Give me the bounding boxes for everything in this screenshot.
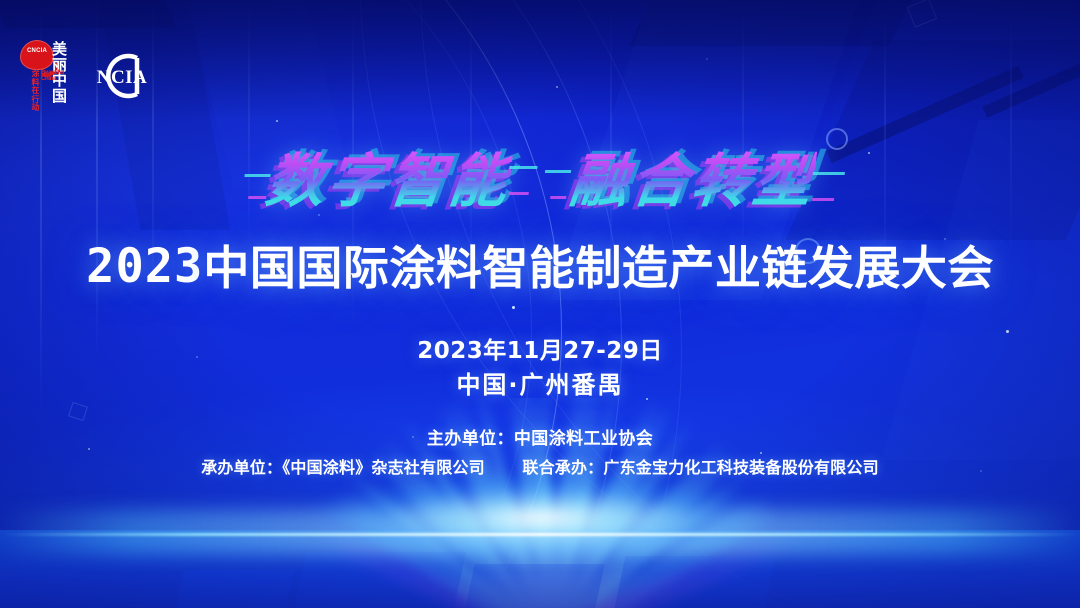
logo-group: CNCIA 美丽中国 涂料在行动 Beautiful China NCIA xyxy=(20,40,154,112)
organizer-line: 承办单位：《中国涂料》杂志社有限公司 联合承办：广东金宝力化工科技装备股份有限公… xyxy=(0,454,1080,482)
headline-word-1: 数字智能 数字智能 数字智能 数字智能 xyxy=(263,152,513,210)
ncia-logo-svg: NCIA xyxy=(90,47,154,105)
badge-label: CNCIA xyxy=(20,48,54,54)
headline: 数字智能 数字智能 数字智能 数字智能 融合转型 融合转型 融合转型 融合转型 xyxy=(0,152,1080,210)
glitch-bar xyxy=(244,174,270,177)
glitch-bar xyxy=(813,172,845,175)
glitch-bar xyxy=(545,170,571,173)
conference-poster: CNCIA 美丽中国 涂料在行动 Beautiful China NCIA 数字… xyxy=(0,0,1080,608)
organizing-company: 承办单位：《中国涂料》杂志社有限公司 xyxy=(201,458,485,477)
ncia-logo[interactable]: NCIA xyxy=(90,47,154,105)
main-title-year: 2023 xyxy=(86,239,203,294)
glitch-bar xyxy=(508,192,528,195)
beautiful-china-english: Beautiful China xyxy=(41,70,50,82)
event-location: 中国·广州番禺 xyxy=(0,368,1080,402)
glitch-bar xyxy=(812,198,834,201)
svg-text:NCIA: NCIA xyxy=(97,67,148,88)
beautiful-china-logo[interactable]: CNCIA 美丽中国 涂料在行动 Beautiful China xyxy=(20,40,68,112)
glitch-bar xyxy=(550,196,566,199)
glitch-bar xyxy=(509,166,537,169)
event-info: 2023年11月27-29日 中国·广州番禺 xyxy=(0,334,1080,402)
glitch-bar xyxy=(248,196,266,199)
main-title: 2023中国国际涂料智能制造产业链发展大会 xyxy=(0,232,1080,298)
organizers: 主办单位：中国涂料工业协会 承办单位：《中国涂料》杂志社有限公司 联合承办：广东… xyxy=(0,424,1080,482)
main-title-text: 中国国际涂料智能制造产业链发展大会 xyxy=(203,241,994,295)
co-organizing-company: 联合承办：广东金宝力化工科技装备股份有限公司 xyxy=(522,458,878,477)
headline-word-2: 融合转型 融合转型 融合转型 融合转型 xyxy=(567,152,817,210)
host-organization: 主办单位：中国涂料工业协会 xyxy=(0,424,1080,454)
event-date: 2023年11月27-29日 xyxy=(0,334,1080,368)
